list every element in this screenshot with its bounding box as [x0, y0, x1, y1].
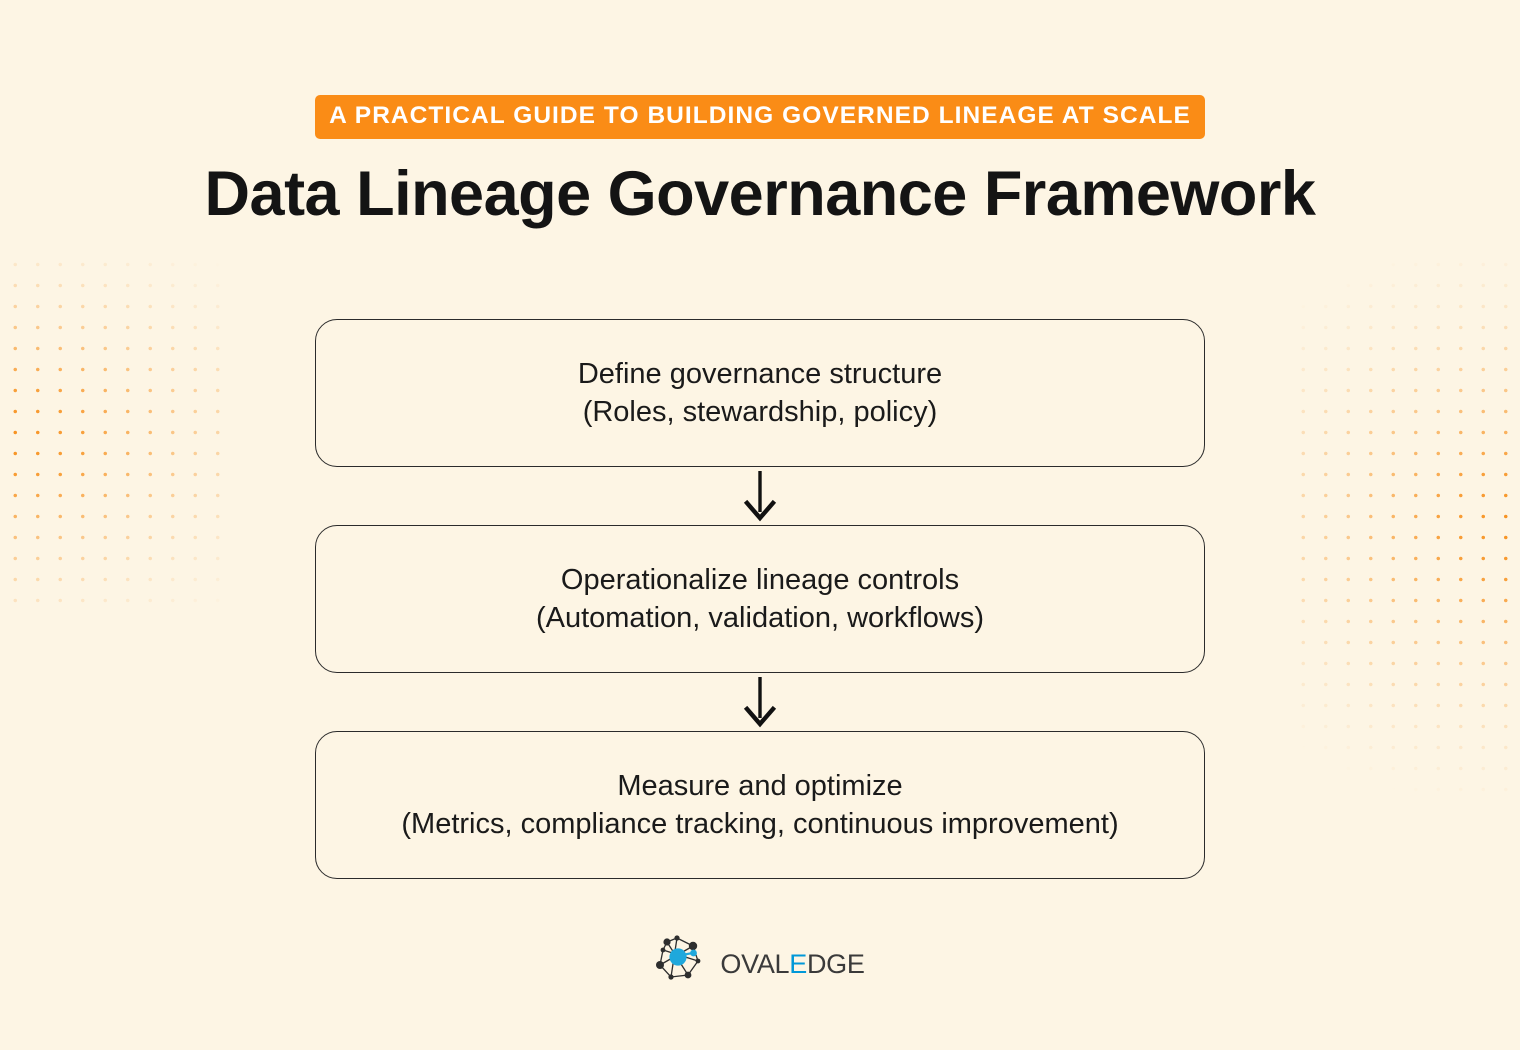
eyebrow-badge: A PRACTICAL GUIDE TO BUILDING GOVERNED L…	[315, 95, 1205, 139]
logo-letter-e: E	[789, 939, 807, 982]
logo-wordmark: OvalEdge	[720, 941, 864, 980]
eyebrow-container: A PRACTICAL GUIDE TO BUILDING GOVERNED L…	[0, 95, 1520, 139]
flow-step-3: Measure and optimize (Metrics, complianc…	[315, 731, 1205, 879]
flow-step-1: Define governance structure (Roles, stew…	[315, 319, 1205, 467]
process-flow: Define governance structure (Roles, stew…	[315, 319, 1205, 879]
infographic-page: A PRACTICAL GUIDE TO BUILDING GOVERNED L…	[0, 0, 1520, 1050]
logo-word-oval: Oval	[720, 939, 789, 982]
logo-word-dge: dge	[807, 939, 865, 982]
arrow-down-icon-1	[743, 467, 777, 525]
flow-step-2-line-2: (Automation, validation, workflows)	[536, 599, 984, 637]
flow-step-2: Operationalize lineage controls (Automat…	[315, 525, 1205, 673]
flow-step-3-line-2: (Metrics, compliance tracking, continuou…	[401, 805, 1118, 843]
oval-edge-network-icon	[655, 934, 705, 987]
flow-step-2-line-1: Operationalize lineage controls	[561, 561, 959, 599]
flow-step-1-line-1: Define governance structure	[578, 355, 942, 393]
page-title: Data Lineage Governance Framework	[205, 161, 1316, 227]
ovaledge-logo: OvalEdge	[655, 934, 864, 987]
flow-step-3-line-1: Measure and optimize	[617, 767, 902, 805]
arrow-down-icon-2	[743, 673, 777, 731]
flow-step-1-line-2: (Roles, stewardship, policy)	[583, 393, 938, 431]
